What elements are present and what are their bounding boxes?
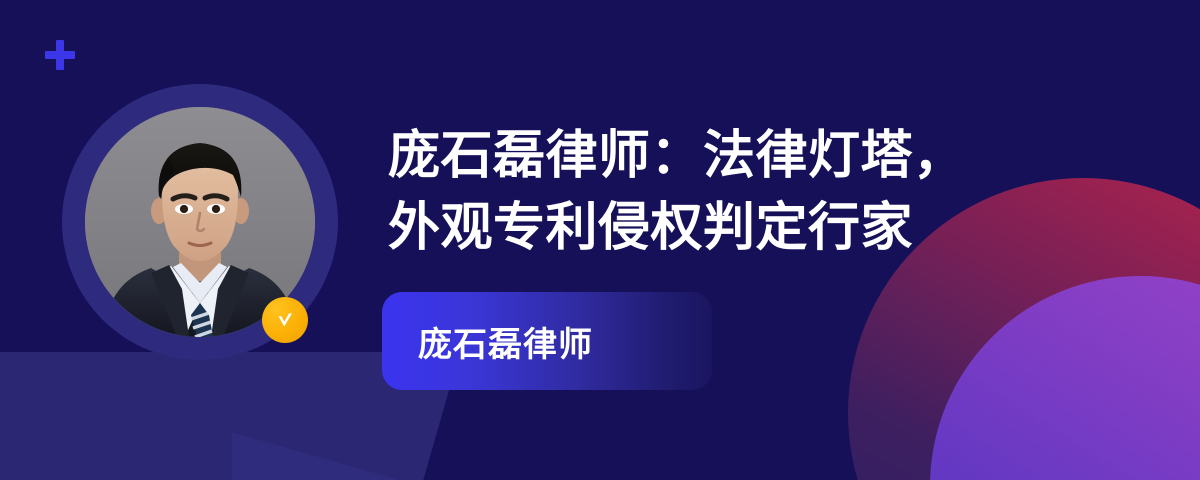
profile-banner: 庞石磊律师：法律灯塔， 外观专利侵权判定行家 庞石磊律师: [0, 0, 1200, 480]
check-glyph: [273, 308, 297, 332]
page-title: 庞石磊律师：法律灯塔， 外观专利侵权判定行家: [388, 120, 1028, 264]
avatar[interactable]: [62, 84, 338, 360]
banner-content: 庞石磊律师：法律灯塔， 外观专利侵权判定行家 庞石磊律师: [388, 0, 1178, 480]
decorative-polygon-bottom-left: [0, 404, 200, 480]
verified-check-icon: [262, 297, 308, 343]
lawyer-name-chip[interactable]: 庞石磊律师: [382, 292, 712, 390]
plus-icon: [45, 40, 75, 70]
lawyer-name-chip-label: 庞石磊律师: [418, 317, 593, 366]
